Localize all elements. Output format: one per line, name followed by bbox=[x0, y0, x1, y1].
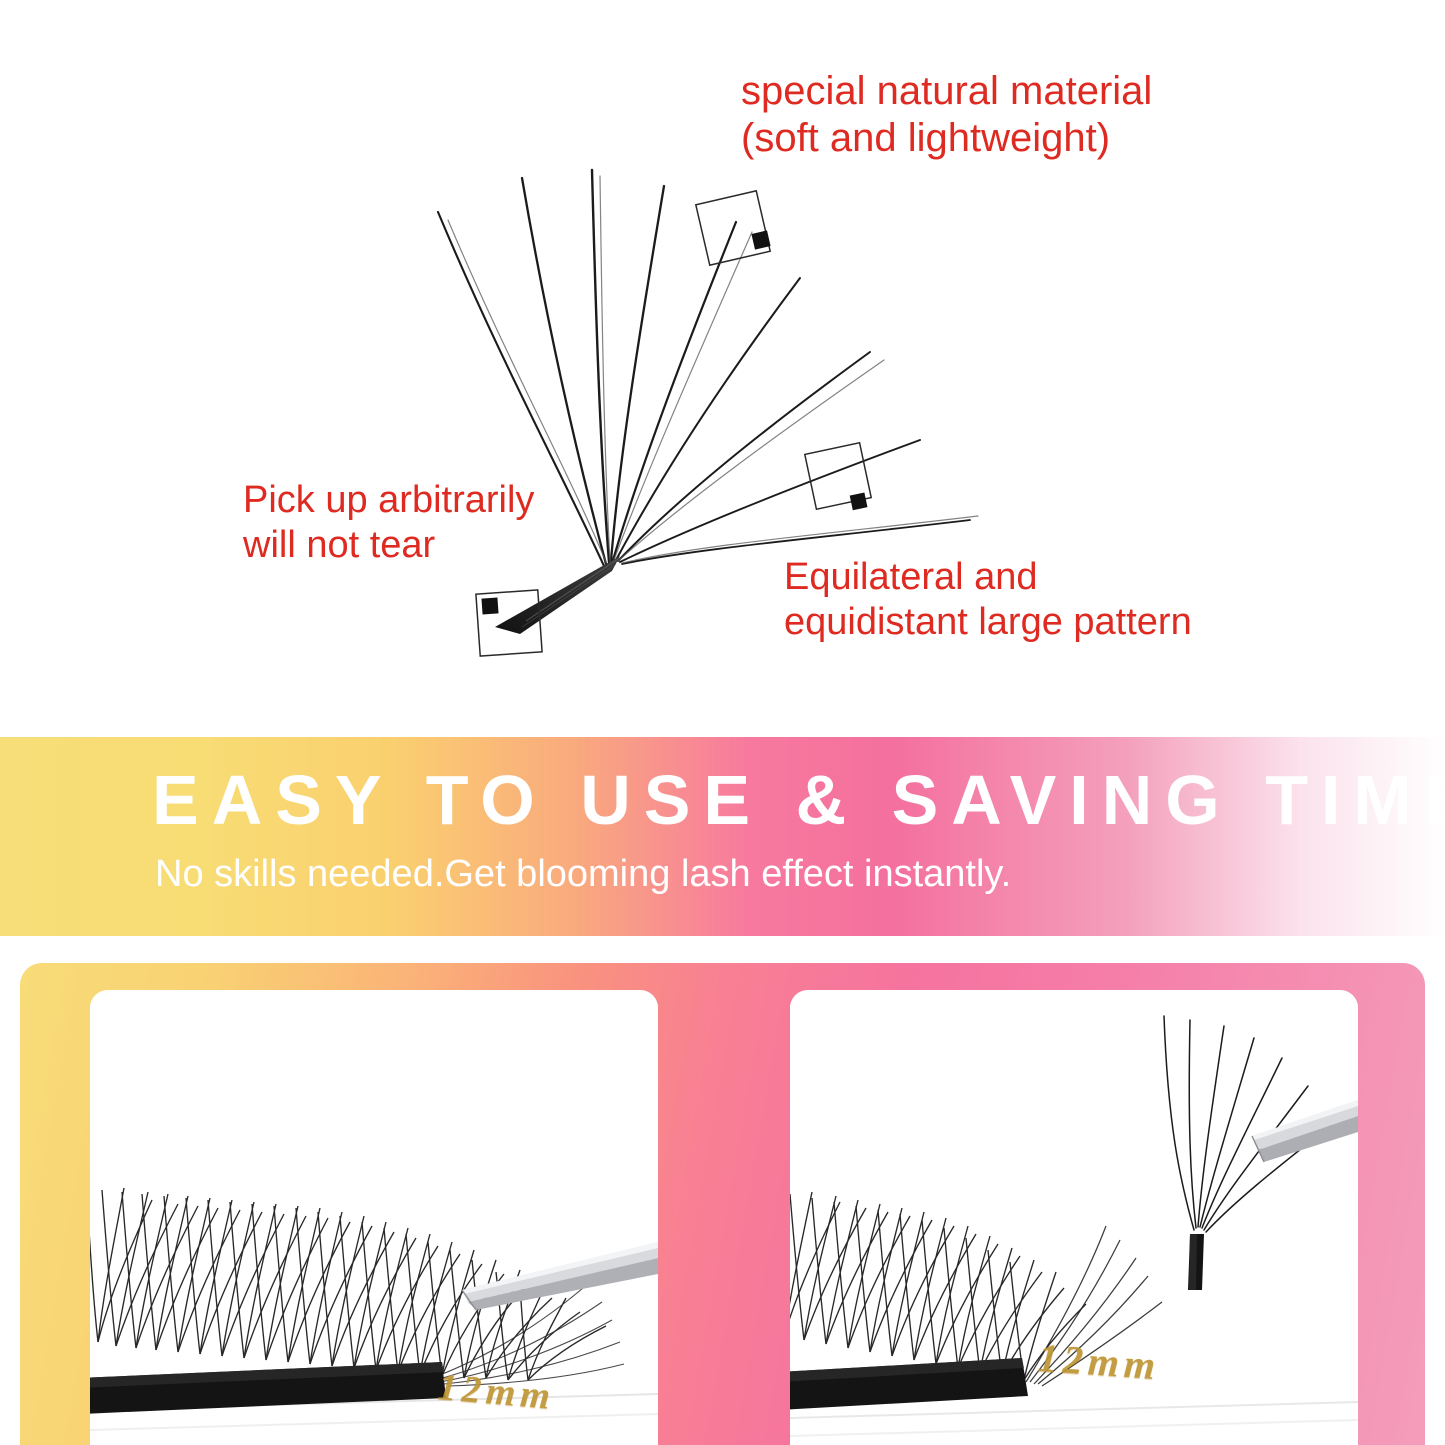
headline-banner: EASY TO USE & SAVING TIME No skills need… bbox=[0, 737, 1445, 936]
gallery-card: 12mm bbox=[20, 963, 1425, 1445]
gallery-panel-lash-fan: 12mm bbox=[790, 990, 1358, 1445]
callout-label-equilateral: Equilateral and equidistant large patter… bbox=[784, 555, 1192, 645]
callout-label-pickup: Pick up arbitrarily will not tear bbox=[243, 478, 534, 568]
marker-mid-right-icon bbox=[805, 443, 871, 510]
gallery-panel-lash-tray: 12mm bbox=[90, 990, 658, 1445]
banner-title: EASY TO USE & SAVING TIME bbox=[152, 765, 1445, 835]
lash-base-band bbox=[495, 556, 620, 634]
lash-tray-photo bbox=[90, 990, 658, 1445]
banner-subtitle: No skills needed.Get blooming lash effec… bbox=[155, 855, 1011, 893]
lash-fan-illustration bbox=[0, 0, 1445, 737]
size-label-12mm-right: 12mm bbox=[1037, 1334, 1162, 1389]
callout-label-material: special natural material (soft and light… bbox=[741, 68, 1152, 162]
product-feature-diagram-section: special natural material (soft and light… bbox=[0, 0, 1445, 737]
